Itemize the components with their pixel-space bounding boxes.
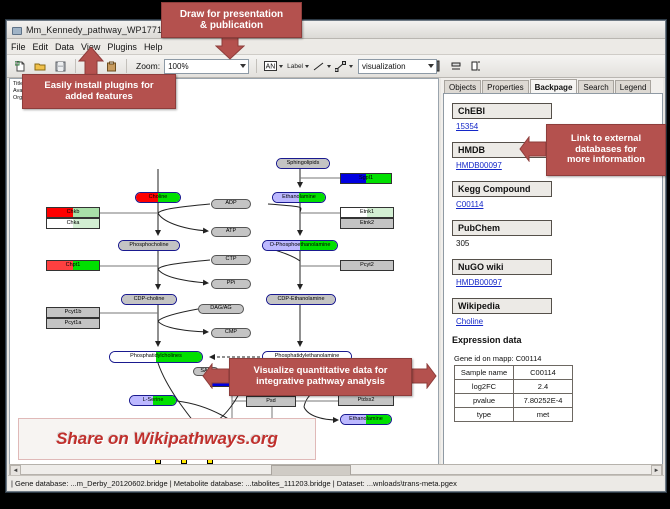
side-panel-tabs: Objects Properties Backpage Search Legen… — [441, 78, 663, 93]
group-icon[interactable] — [468, 58, 484, 74]
pathway-canvas[interactable]: Title: Availa Organ — [9, 78, 439, 467]
node-label: Chpt1 — [66, 263, 81, 269]
menu-item-file[interactable]: File — [11, 42, 26, 52]
toolbar-separator — [256, 59, 257, 73]
node-pcyt1b[interactable]: Pcyt1b — [46, 307, 100, 318]
callout-links-text: Link to external databases for more info… — [567, 134, 645, 167]
node-label: CDP-Ethanolamine — [277, 297, 324, 303]
node-ptdss2[interactable]: Ptdss2 — [338, 395, 394, 406]
zoom-label: Zoom: — [136, 61, 160, 71]
chevron-down-icon[interactable] — [305, 65, 309, 68]
node-label: DAG/AG — [210, 306, 231, 312]
db-header-nugo-wiki: NuGO wiki — [452, 259, 552, 275]
expression-data-title: Expression data — [452, 335, 662, 345]
expr-value: met — [514, 408, 573, 422]
node-label: Sgpl1 — [359, 176, 373, 182]
chevron-down-icon[interactable] — [279, 65, 283, 68]
node-adp[interactable]: ADP — [211, 199, 251, 209]
db-value-pubchem: 305 — [456, 239, 662, 248]
node-cdp-ethanolamine[interactable]: CDP-Ethanolamine — [266, 294, 336, 305]
expr-label: type — [455, 408, 514, 422]
callout-visualize-arrow-right-icon — [409, 363, 437, 389]
screenshot-root: Mm_Kennedy_pathway_WP1771_45176.gpml Fil… — [0, 0, 670, 509]
node-label: Psd — [266, 399, 275, 405]
zoom-value: 100% — [168, 62, 188, 71]
node-label: Etnk1 — [360, 210, 374, 216]
node-sgpl1[interactable]: Sgpl1 — [340, 173, 392, 184]
toolbar-separator — [75, 59, 76, 73]
callout-visualize-arrow-left-icon — [202, 363, 230, 389]
menu-item-data[interactable]: Data — [55, 42, 74, 52]
tab-legend[interactable]: Legend — [615, 80, 652, 93]
node-pcyt1a[interactable]: Pcyt1a — [46, 318, 100, 329]
node-label: Sphingolipids — [287, 161, 320, 167]
node-phosphatidylcholines[interactable]: Phosphatidylcholines — [109, 351, 203, 363]
table-row: type met — [455, 408, 573, 422]
callout-plugins-arrow-icon — [78, 47, 104, 77]
status-text: | Gene database: ...m_Derby_20120602.bri… — [11, 479, 457, 488]
table-row: Sample name C00114 — [455, 366, 573, 380]
menu-item-edit[interactable]: Edit — [33, 42, 49, 52]
table-row: log2FC 2.4 — [455, 380, 573, 394]
db-link-nugo-wiki[interactable]: HMDB00097 — [456, 278, 662, 287]
node-sphingolipids[interactable]: Sphingolipids — [276, 158, 330, 169]
expr-value: 7.80252E-4 — [514, 394, 573, 408]
node-ethanolamine[interactable]: Ethanolamine — [272, 192, 326, 203]
node-label: L-Serine — [143, 398, 164, 404]
datanode-tool[interactable]: AN — [264, 60, 283, 72]
node-etnk1[interactable]: Etnk1 — [340, 207, 394, 218]
node-label: PPi — [227, 281, 236, 287]
node-label: ADP — [225, 201, 236, 207]
node-ctp[interactable]: CTP — [211, 255, 251, 265]
node-cmp[interactable]: CMP — [211, 328, 251, 338]
chevron-down-icon — [240, 64, 246, 68]
node-label: CMP — [225, 330, 237, 336]
callout-visualize-text: Visualize quantitative data for integrat… — [254, 366, 388, 388]
callout-draw: Draw for presentation & publication — [161, 2, 302, 38]
node-chpt1[interactable]: Chpt1 — [46, 260, 100, 271]
chevron-down-icon — [428, 64, 434, 68]
node-chkb[interactable]: Chkb — [46, 207, 100, 218]
menu-item-plugins[interactable]: Plugins — [107, 42, 137, 52]
node-choline[interactable]: Choline — [135, 192, 181, 203]
db-header-pubchem: PubChem — [452, 220, 552, 236]
zoom-combo[interactable]: 100% — [164, 59, 249, 74]
node-psd[interactable]: Psd — [246, 396, 296, 407]
callout-share: Share on Wikipathways.org — [18, 418, 316, 460]
toolbar-separator — [126, 59, 127, 73]
expr-value: C00114 — [514, 366, 573, 380]
gene-id-line: Gene id on mapp: C00114 — [454, 354, 662, 363]
label-tool-text: Label — [287, 63, 303, 70]
visualization-value: visualization — [362, 62, 406, 71]
menu-item-help[interactable]: Help — [144, 42, 163, 52]
node-o-phosphoethanolamine[interactable]: O-Phosphoethanolamine — [262, 240, 338, 251]
visualization-combo[interactable]: visualization — [358, 59, 437, 74]
menu-bar: File Edit Data View Plugins Help — [7, 39, 665, 55]
node-label: Chka — [67, 221, 80, 227]
node-etnk2[interactable]: Etnk2 — [340, 218, 394, 229]
expr-label: log2FC — [455, 380, 514, 394]
node-dag-ag[interactable]: DAG/AG — [198, 304, 244, 314]
db-header-kegg-compound: Kegg Compound — [452, 181, 552, 197]
node-label: O-Phosphoethanolamine — [270, 243, 331, 249]
node-label: Pcyt2 — [360, 263, 374, 269]
callout-plugins-text: Easily install plugins for added feature… — [44, 81, 153, 103]
node-label: Phosphatidylcholines — [130, 354, 182, 360]
node-label: Pcyt1b — [65, 310, 82, 316]
label-tool[interactable]: Label — [287, 63, 309, 70]
callout-visualize: Visualize quantitative data for integrat… — [229, 358, 412, 396]
paste-icon[interactable] — [103, 58, 119, 74]
svg-text:AN: AN — [266, 64, 276, 71]
db-header-chebi: ChEBI — [452, 103, 552, 119]
node-atp[interactable]: ATP — [211, 227, 251, 237]
stack-icon[interactable] — [448, 58, 464, 74]
node-label: Pcyt1a — [65, 321, 82, 327]
node-label: ATP — [226, 229, 236, 235]
callout-share-text: Share on Wikipathways.org — [56, 429, 278, 449]
tab-properties[interactable]: Properties — [482, 80, 528, 93]
status-bar: | Gene database: ...m_Derby_20120602.bri… — [8, 475, 664, 490]
title-bar: Mm_Kennedy_pathway_WP1771_45176.gpml — [7, 21, 665, 39]
chevron-down-icon[interactable] — [349, 65, 353, 68]
expression-table: Sample name C00114 log2FC 2.4 pvalue 7.8… — [454, 365, 573, 422]
node-label: Choline — [149, 195, 168, 201]
callout-plugins: Easily install plugins for added feature… — [22, 74, 176, 109]
node-label: Ptdss2 — [358, 398, 375, 404]
pathway-edges — [10, 79, 436, 467]
node-chka[interactable]: Chka — [46, 218, 100, 229]
node-ppi[interactable]: PPi — [211, 279, 251, 289]
db-link-kegg-compound[interactable]: C00114 — [456, 200, 662, 209]
node-l-serine-left[interactable]: L-Serine — [129, 395, 177, 406]
save-icon[interactable] — [52, 58, 68, 74]
db-header-wikipedia: Wikipedia — [452, 298, 552, 314]
open-folder-icon[interactable] — [32, 58, 48, 74]
line-tool[interactable] — [313, 61, 331, 72]
node-label: Chkb — [67, 210, 80, 216]
node-label: Ethanolamine — [282, 195, 316, 201]
node-cdp-choline[interactable]: CDP-choline — [121, 294, 177, 305]
node-label: Ethanolamine — [349, 417, 383, 423]
table-row: pvalue 7.80252E-4 — [455, 394, 573, 408]
node-label: Etnk2 — [360, 221, 374, 227]
app-icon — [11, 24, 22, 35]
expr-label: Sample name — [455, 366, 514, 380]
expr-value: 2.4 — [514, 380, 573, 394]
callout-draw-text: Draw for presentation & publication — [180, 9, 283, 32]
node-phosphocholine[interactable]: Phosphocholine — [118, 240, 180, 251]
tab-backpage[interactable]: Backpage — [530, 79, 578, 93]
node-label: CDP-choline — [134, 297, 165, 303]
new-document-icon[interactable] — [12, 58, 28, 74]
tab-objects[interactable]: Objects — [444, 80, 481, 93]
node-pcyt2[interactable]: Pcyt2 — [340, 260, 394, 271]
callout-links: Link to external databases for more info… — [546, 124, 666, 176]
node-ethanolamine-2[interactable]: Ethanolamine — [340, 414, 392, 425]
tab-search[interactable]: Search — [578, 80, 613, 93]
chevron-down-icon[interactable] — [327, 65, 331, 68]
node-label: Phosphocholine — [129, 243, 168, 249]
anchor-tool[interactable] — [335, 61, 353, 72]
expr-label: pvalue — [455, 394, 514, 408]
callout-links-arrow-icon — [519, 136, 547, 162]
db-link-wikipedia[interactable]: Choline — [456, 317, 662, 326]
node-label: CTP — [226, 257, 237, 263]
